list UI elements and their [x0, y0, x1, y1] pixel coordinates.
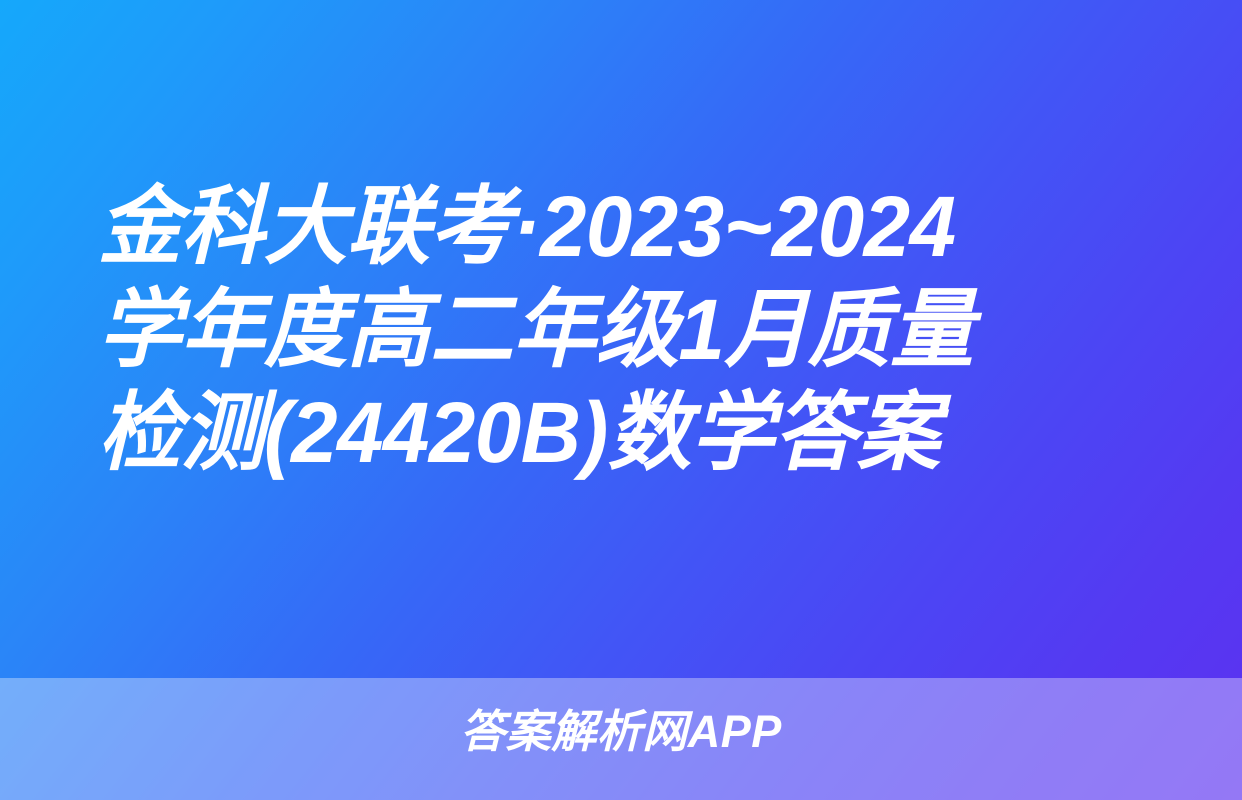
title-line-1: 金科大联考·2023~2024 [98, 176, 1117, 279]
promo-poster: 金科大联考·2023~2024 学年度高二年级1月质量 检测(24420B)数学… [0, 0, 1242, 800]
title-line-3: 检测(24420B)数学答案 [98, 382, 1117, 485]
page-title: 金科大联考·2023~2024 学年度高二年级1月质量 检测(24420B)数学… [98, 176, 1148, 485]
title-line-2: 学年度高二年级1月质量 [98, 279, 1117, 382]
watermark-text: 答案解析网APP [0, 704, 1242, 760]
